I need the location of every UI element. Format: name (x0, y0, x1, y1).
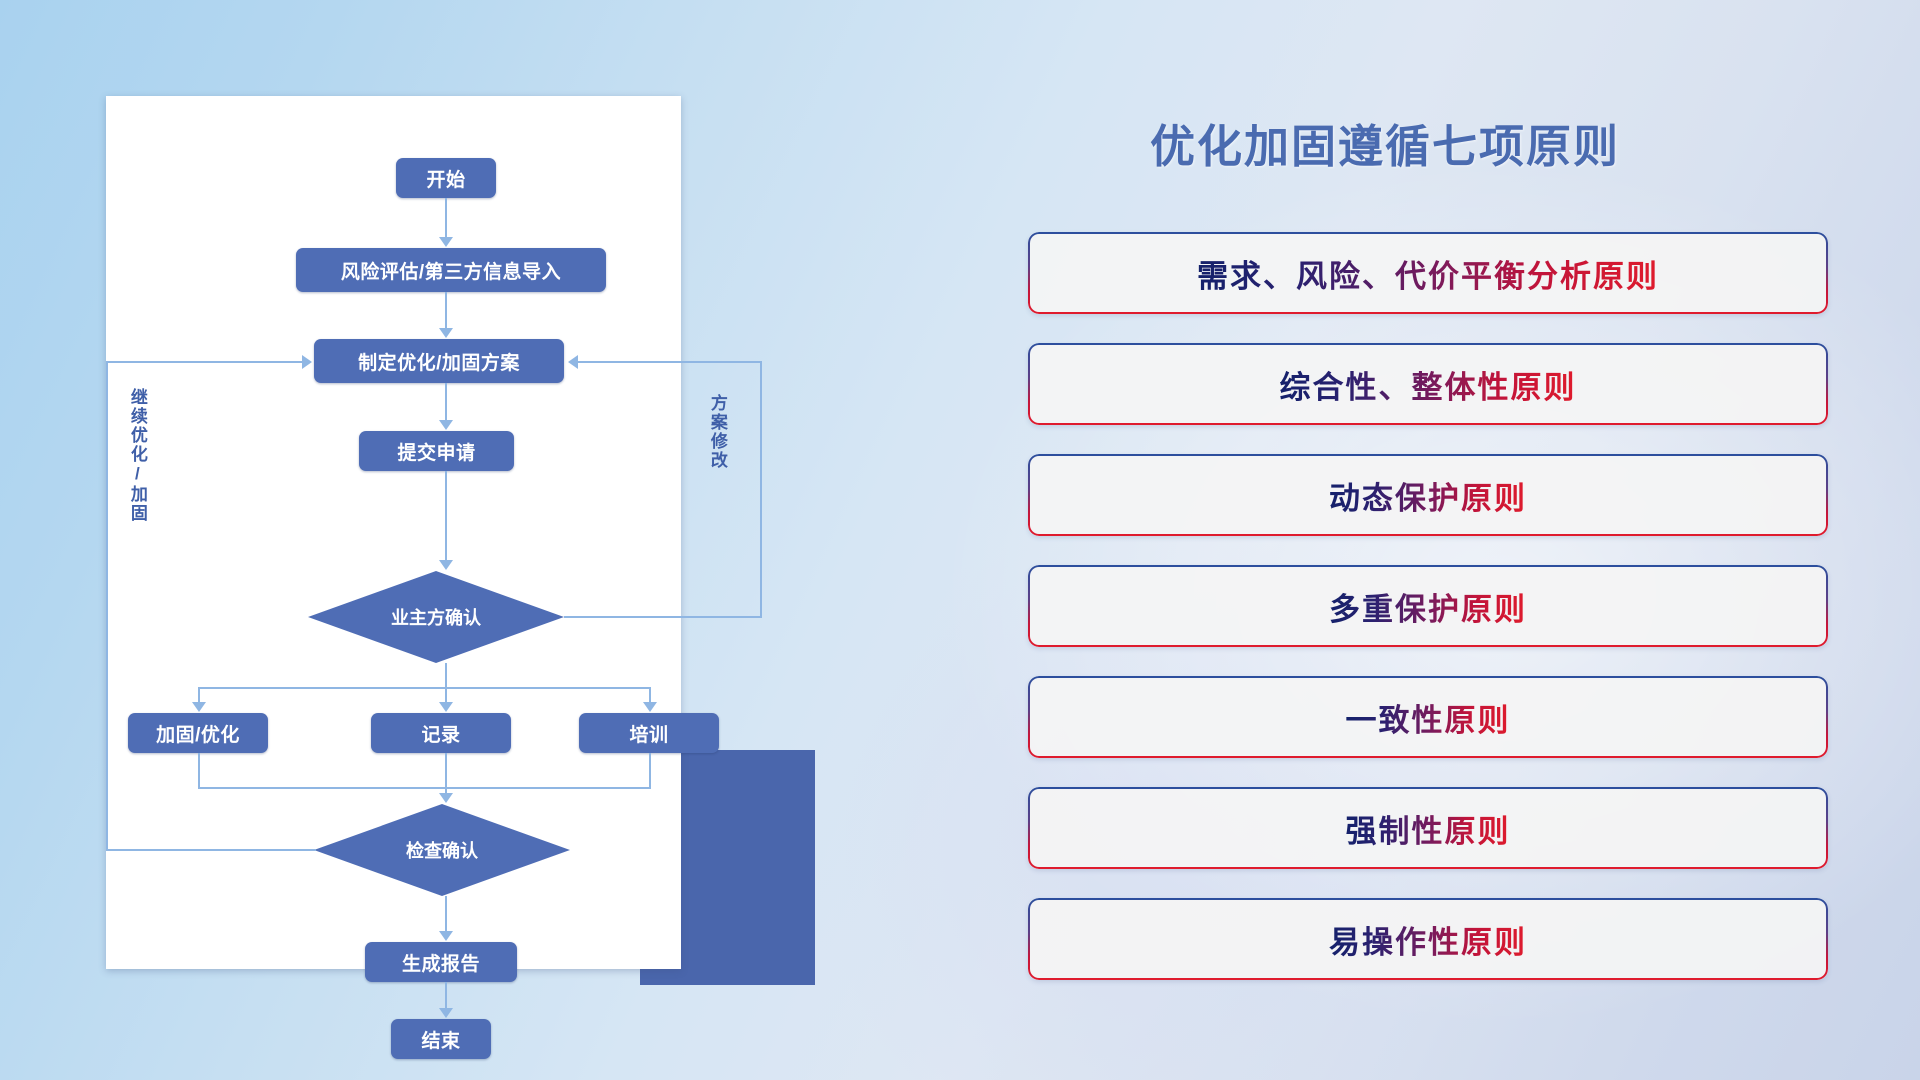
flow-node-label: 制定优化/加固方案 (358, 348, 520, 375)
principles-list: 需求、风险、代价平衡分析原则 综合性、整体性原则 动态保护原则 多重保护原则 一… (1028, 232, 1828, 1009)
edge-label-continue-optimize: 继续优化/加固 (128, 388, 146, 523)
connector-right-loop-vertical (760, 361, 762, 618)
flow-node-label: 加固/优化 (156, 720, 240, 747)
flow-node-reinforce-optimize[interactable]: 加固/优化 (128, 713, 268, 753)
connector-submit-to-owner (445, 471, 447, 561)
flow-node-training[interactable]: 培训 (579, 713, 719, 753)
principle-item[interactable]: 一致性原则 (1028, 676, 1828, 758)
flow-node-start[interactable]: 开始 (396, 158, 496, 198)
connector-branch-bus (198, 687, 650, 689)
principle-label: 综合性、整体性原则 (1280, 362, 1577, 407)
flow-node-label: 提交申请 (397, 438, 475, 465)
connector-left-loop-bottom (106, 849, 316, 851)
arrow-down-icon (439, 560, 453, 570)
connector-branch-right (649, 687, 651, 703)
flow-node-label: 结束 (421, 1026, 460, 1053)
principle-label: 易操作性原则 (1329, 917, 1527, 962)
arrow-down-icon (439, 702, 453, 712)
principles-panel: 优化加固遵循七项原则 需求、风险、代价平衡分析原则 综合性、整体性原则 动态保护… (1000, 0, 1920, 1080)
flow-node-label: 业主方确认 (391, 604, 481, 630)
connector-owner-down (445, 663, 447, 688)
arrow-down-icon (439, 237, 453, 247)
flow-node-end[interactable]: 结束 (391, 1019, 491, 1059)
flow-node-record[interactable]: 记录 (371, 713, 511, 753)
connector-merge-right (649, 753, 651, 789)
principle-label: 多重保护原则 (1329, 584, 1527, 629)
connector-start-to-assessment (445, 198, 447, 238)
principle-label: 需求、风险、代价平衡分析原则 (1197, 251, 1659, 296)
principle-label: 动态保护原则 (1329, 473, 1527, 518)
arrow-down-icon (192, 702, 206, 712)
edge-label-plan-revision: 方案修改 (708, 394, 726, 470)
flow-node-plan[interactable]: 制定优化/加固方案 (314, 339, 564, 383)
principle-label: 一致性原则 (1346, 695, 1511, 740)
flow-node-label: 记录 (421, 720, 460, 747)
arrow-down-icon (643, 702, 657, 712)
principle-item[interactable]: 强制性原则 (1028, 787, 1828, 869)
principle-item[interactable]: 综合性、整体性原则 (1028, 343, 1828, 425)
connector-assessment-to-plan (445, 292, 447, 329)
flowchart-panel: 开始 风险评估/第三方信息导入 制定优化/加固方案 提交申请 业主方确认 加固/… (0, 0, 830, 1080)
flow-node-submit-application[interactable]: 提交申请 (359, 431, 514, 471)
arrow-down-icon (439, 931, 453, 941)
connector-branch-left (198, 687, 200, 703)
flow-decision-inspect-confirm[interactable]: 检查确认 (314, 804, 570, 896)
connector-right-loop-top (578, 361, 762, 363)
flow-node-label: 生成报告 (402, 949, 480, 976)
connector-left-loop-vertical (106, 361, 108, 851)
flow-decision-owner-confirm[interactable]: 业主方确认 (308, 571, 564, 663)
arrow-down-icon (439, 1008, 453, 1018)
principle-item[interactable]: 动态保护原则 (1028, 454, 1828, 536)
connector-merge-bus (198, 787, 650, 789)
flow-node-label: 开始 (426, 165, 465, 192)
page-title: 优化加固遵循七项原则 (1150, 110, 1620, 175)
arrow-left-icon (568, 355, 578, 369)
connector-merge-left (198, 753, 200, 789)
principle-label: 强制性原则 (1346, 806, 1511, 851)
arrow-down-icon (439, 420, 453, 430)
connector-left-loop-top (106, 361, 302, 363)
connector-inspect-to-report (445, 896, 447, 932)
flow-node-label: 培训 (629, 720, 668, 747)
connector-right-loop-bottom (564, 616, 762, 618)
flow-node-generate-report[interactable]: 生成报告 (365, 942, 517, 982)
flowchart-card: 开始 风险评估/第三方信息导入 制定优化/加固方案 提交申请 业主方确认 加固/… (106, 96, 681, 969)
flow-node-risk-assessment[interactable]: 风险评估/第三方信息导入 (296, 248, 606, 292)
connector-report-to-end (445, 982, 447, 1009)
arrow-down-icon (439, 328, 453, 338)
flow-node-label: 检查确认 (406, 837, 478, 863)
principle-item[interactable]: 需求、风险、代价平衡分析原则 (1028, 232, 1828, 314)
arrow-right-icon (302, 355, 312, 369)
principle-item[interactable]: 多重保护原则 (1028, 565, 1828, 647)
flow-node-label: 风险评估/第三方信息导入 (341, 257, 561, 284)
arrow-down-icon (439, 793, 453, 803)
connector-plan-to-submit (445, 383, 447, 421)
connector-merge-mid (445, 753, 447, 789)
connector-branch-mid (445, 687, 447, 703)
principle-item[interactable]: 易操作性原则 (1028, 898, 1828, 980)
